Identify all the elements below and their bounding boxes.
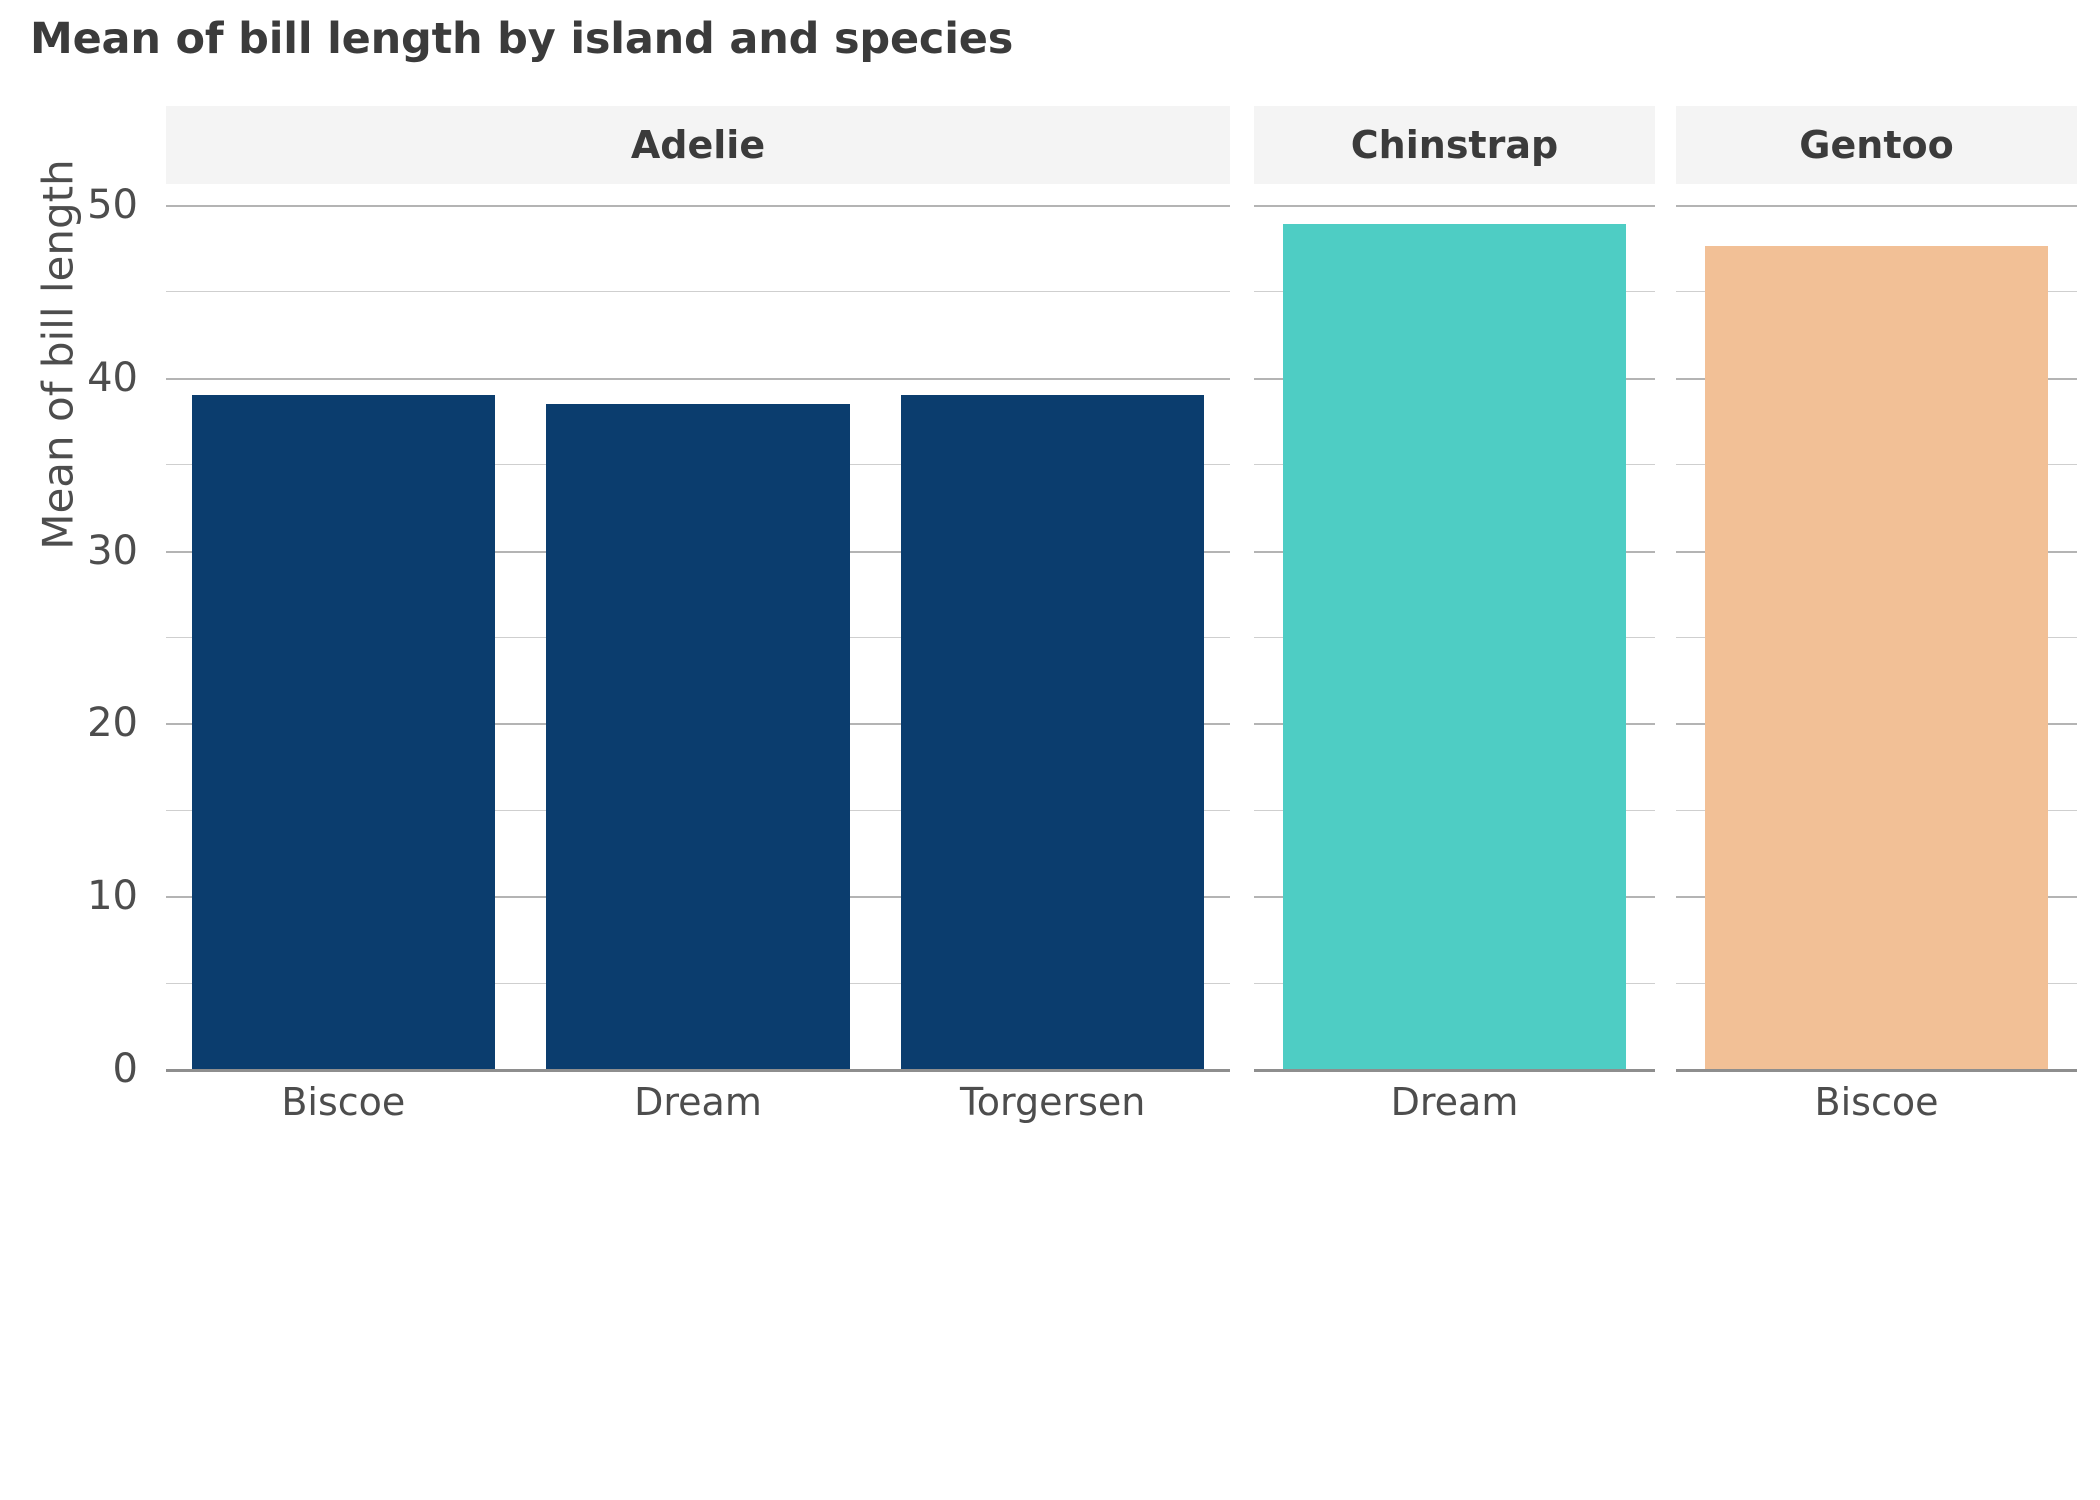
y-tick-label-40: 40 [87, 355, 138, 401]
bar-chinstrap-dream[interactable] [1283, 224, 1626, 1069]
bar-adelie-dream[interactable] [546, 404, 849, 1069]
x-axis-line [166, 1069, 1230, 1072]
x-tick-label-dream: Dream [1391, 1080, 1519, 1124]
x-axis-line [1676, 1069, 2077, 1072]
bar-adelie-torgersen[interactable] [901, 395, 1204, 1069]
x-axis-line [1254, 1069, 1655, 1072]
y-axis-title: Mean of bill length [34, 5, 83, 705]
y-tick-label-30: 30 [87, 528, 138, 574]
y-tick-label-50: 50 [87, 182, 138, 228]
gridline-minor [166, 291, 1230, 292]
gridline-major [1254, 205, 1655, 207]
x-tick-label-torgersen: Torgersen [960, 1080, 1145, 1124]
y-axis: Mean of bill length 01020304050 [0, 0, 160, 1500]
gridline-major [166, 205, 1230, 207]
bar-gentoo-biscoe[interactable] [1705, 246, 2048, 1069]
panel-adelie [166, 184, 1230, 1069]
x-tick-label-biscoe: Biscoe [1815, 1080, 1939, 1124]
bar-chart-figure: Mean of bill length by island and specie… [0, 0, 2100, 1500]
panel-chinstrap [1254, 184, 1655, 1069]
bar-adelie-biscoe[interactable] [192, 395, 495, 1069]
x-tick-label-dream: Dream [634, 1080, 762, 1124]
gridline-major [166, 378, 1230, 380]
y-tick-label-20: 20 [87, 700, 138, 746]
y-tick-label-0: 0 [113, 1046, 138, 1092]
gridline-major [1676, 205, 2077, 207]
x-tick-label-biscoe: Biscoe [281, 1080, 405, 1124]
y-tick-label-10: 10 [87, 873, 138, 919]
plot-area: BiscoeDreamTorgersenDreamBiscoe [0, 0, 2100, 1500]
panel-gentoo [1676, 184, 2077, 1069]
